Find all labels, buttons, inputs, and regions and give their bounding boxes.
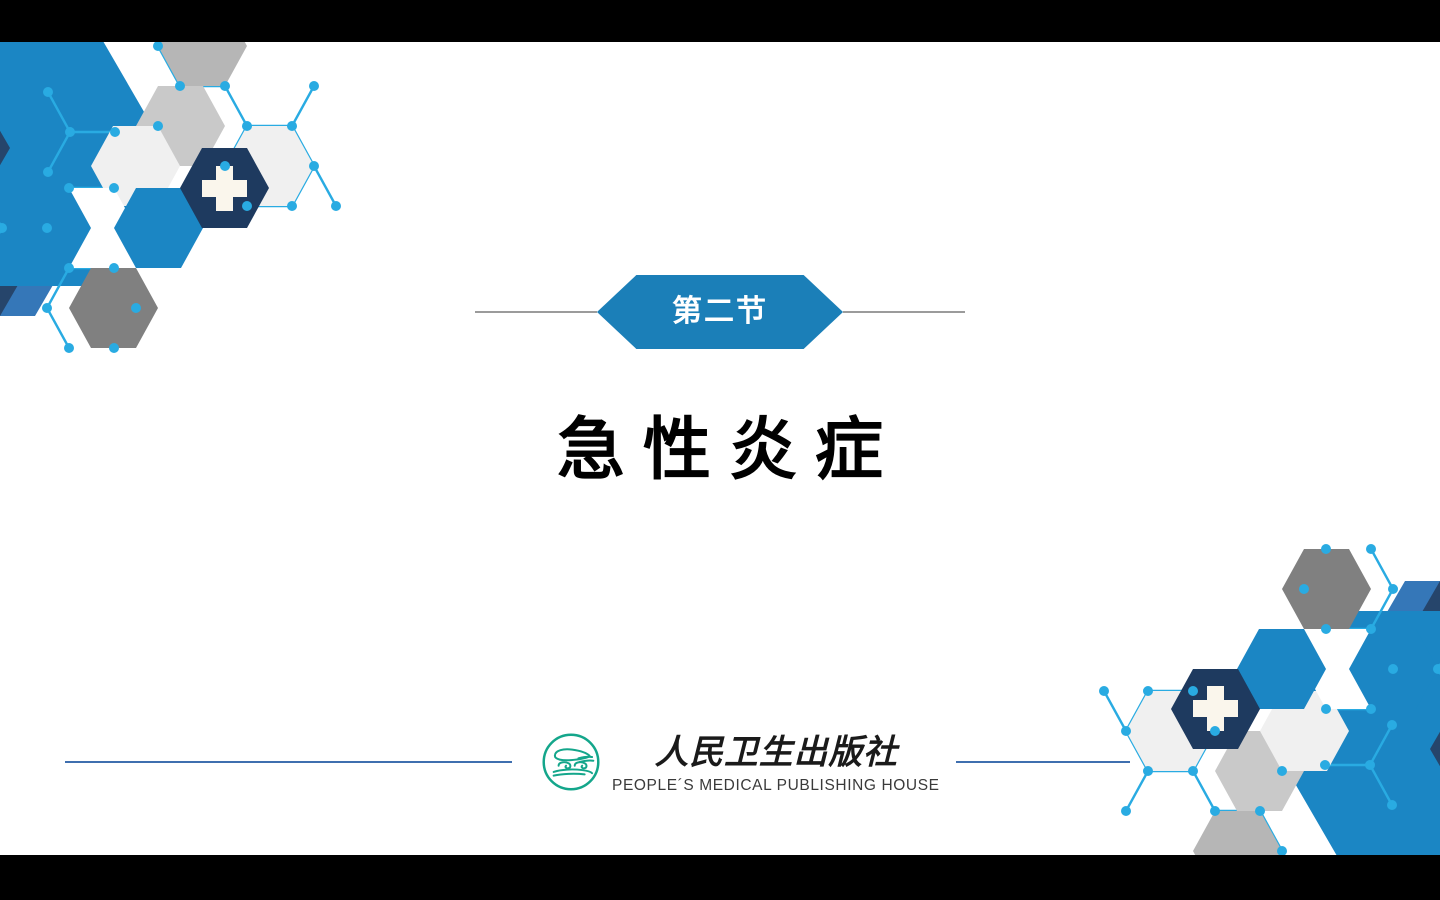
hexagon-blue-2: [114, 188, 203, 268]
letterbox-bar-top: [0, 0, 1440, 42]
hexagon-blue-2: [1237, 629, 1326, 709]
chevron-bright-blue: [0, 42, 165, 286]
publisher-chinese-name-text: 人民卫生出版社: [654, 732, 899, 772]
hexagon-gray: [136, 86, 225, 166]
hexagon-pale-1: [91, 126, 180, 206]
footer-rule-right: [956, 761, 1130, 763]
publisher-name-block: 人民卫生出版社 PEOPLE´S MEDICAL PUBLISHING HOUS…: [612, 730, 940, 794]
hexagon-gray-light: [158, 42, 247, 86]
footer: 人民卫生出版社 PEOPLE´S MEDICAL PUBLISHING HOUS…: [0, 702, 1440, 822]
plus-cross-icon: [202, 166, 247, 211]
medical-cross-badge: [180, 148, 269, 228]
hexagon-blue-1: [1349, 629, 1438, 709]
hexagon-white-1: [1304, 629, 1393, 709]
footer-rule-left: [65, 761, 512, 763]
page-title: 急性炎症: [0, 417, 1440, 485]
decoration-top-left: [0, 42, 360, 420]
hexagon-blue-1: [2, 188, 91, 268]
hexagon-navy-badge: [180, 148, 269, 228]
section-number-badge: 第二节: [597, 275, 843, 349]
banner-rule-right: [843, 311, 965, 313]
publisher-english-name: PEOPLE´S MEDICAL PUBLISHING HOUSE: [612, 778, 940, 794]
cloud-swirl-circle-emblem-icon: [540, 731, 602, 793]
slide-root: 第二节 急性炎症: [0, 0, 1440, 900]
publisher-chinese-name-calligraphy: 人民卫生出版社: [628, 730, 924, 776]
section-banner: 第二节: [0, 272, 1440, 352]
publisher-logo: 人民卫生出版社 PEOPLE´S MEDICAL PUBLISHING HOUS…: [540, 730, 940, 794]
banner-rule-left: [475, 311, 597, 313]
letterbox-bar-bottom: [0, 855, 1440, 900]
slide-canvas: 第二节 急性炎症: [0, 42, 1440, 855]
hexagon-pale-2: [225, 126, 314, 206]
section-number-label: 第二节: [672, 297, 768, 327]
hexagon-white-1: [47, 188, 136, 268]
hexagon-gray-dark: [1282, 549, 1371, 629]
